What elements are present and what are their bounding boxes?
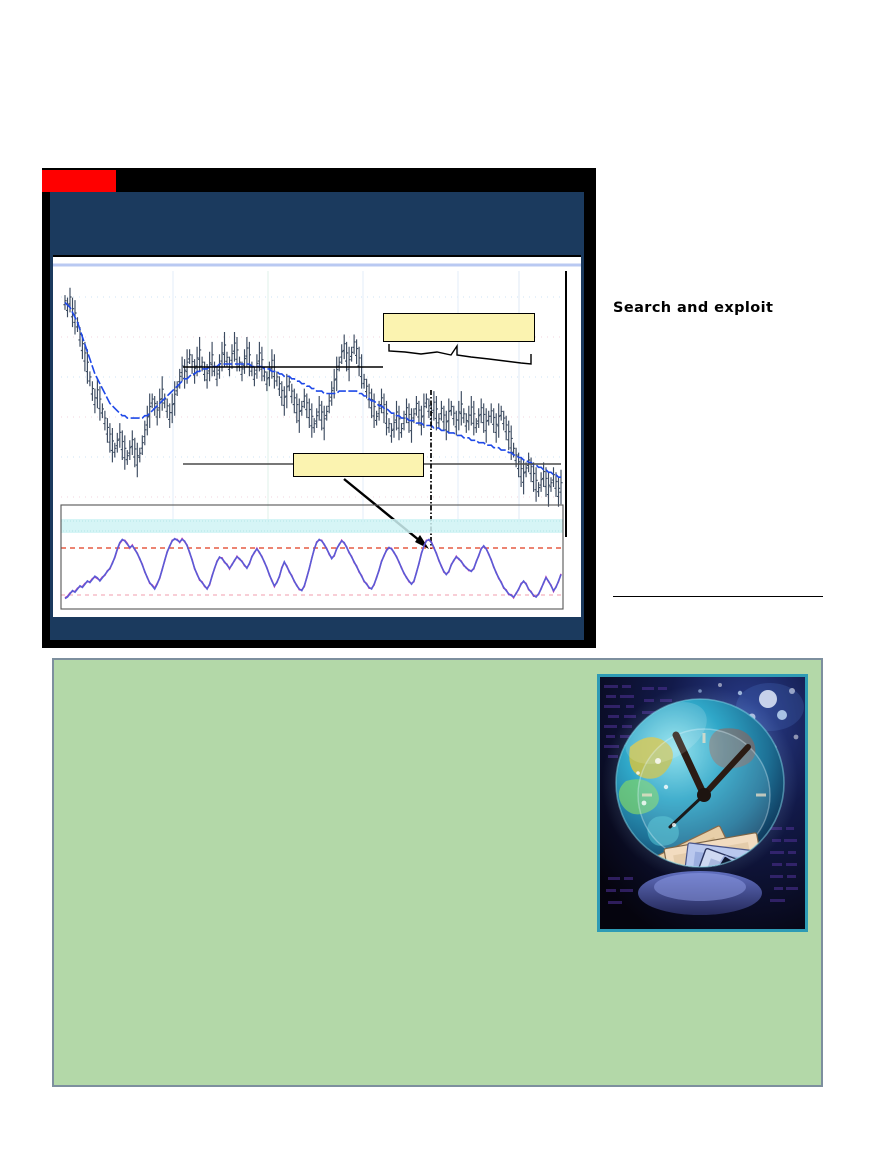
globe-illustration-svg (600, 677, 805, 929)
oscillator-panel (61, 505, 563, 609)
page-title: Search and exploit (613, 300, 823, 316)
window-body (50, 192, 586, 640)
price-grid (61, 271, 563, 525)
titlebar-accent-block (42, 170, 116, 192)
annotation-callout-lower[interactable] (293, 453, 424, 477)
callout-arrow (344, 479, 429, 549)
chart-canvas[interactable] (53, 255, 581, 617)
chart-window (42, 168, 596, 648)
right-column: Search and exploit (613, 300, 823, 316)
chart-footer-band (50, 618, 584, 640)
window-titlebar[interactable] (42, 168, 596, 192)
financial-chart-svg (53, 257, 581, 617)
range-bracket (389, 344, 531, 364)
globe-illustration (597, 674, 808, 932)
section-divider (613, 596, 823, 597)
annotation-callout-upper[interactable] (383, 313, 535, 342)
chart-header-band (50, 192, 584, 255)
